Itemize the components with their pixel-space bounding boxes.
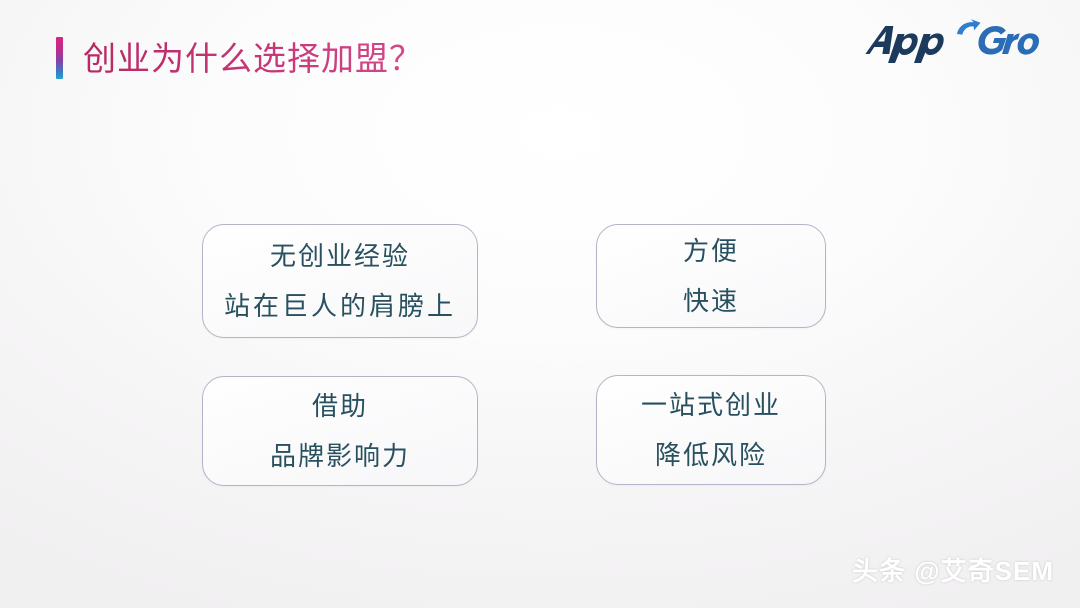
card-line-2: 降低风险 (655, 442, 767, 468)
watermark: 头条 @艾奇SEM (852, 551, 1054, 588)
card-line-1: 无创业经验 (270, 243, 410, 269)
card-line-2: 品牌影响力 (270, 443, 410, 469)
card-line-2: 站在巨人的肩膀上 (224, 293, 456, 319)
card-line-1: 借助 (312, 393, 368, 419)
card-line-1: 一站式创业 (641, 392, 781, 418)
benefit-card-brand-influence[interactable]: 借助 品牌影响力 (202, 376, 478, 486)
benefit-card-convenient-fast[interactable]: 方便 快速 (596, 224, 826, 328)
benefit-card-one-stop-startup[interactable]: 一站式创业 降低风险 (596, 375, 826, 485)
card-line-2: 快速 (683, 288, 739, 314)
benefit-card-no-experience[interactable]: 无创业经验 站在巨人的肩膀上 (202, 224, 478, 338)
benefit-cards-group: 无创业经验 站在巨人的肩膀上 方便 快速 借助 品牌影响力 一站式创业 降低风险 (0, 0, 1080, 608)
slide-canvas: 创业为什么选择加盟？ (0, 0, 1080, 608)
card-line-1: 方便 (683, 238, 739, 264)
